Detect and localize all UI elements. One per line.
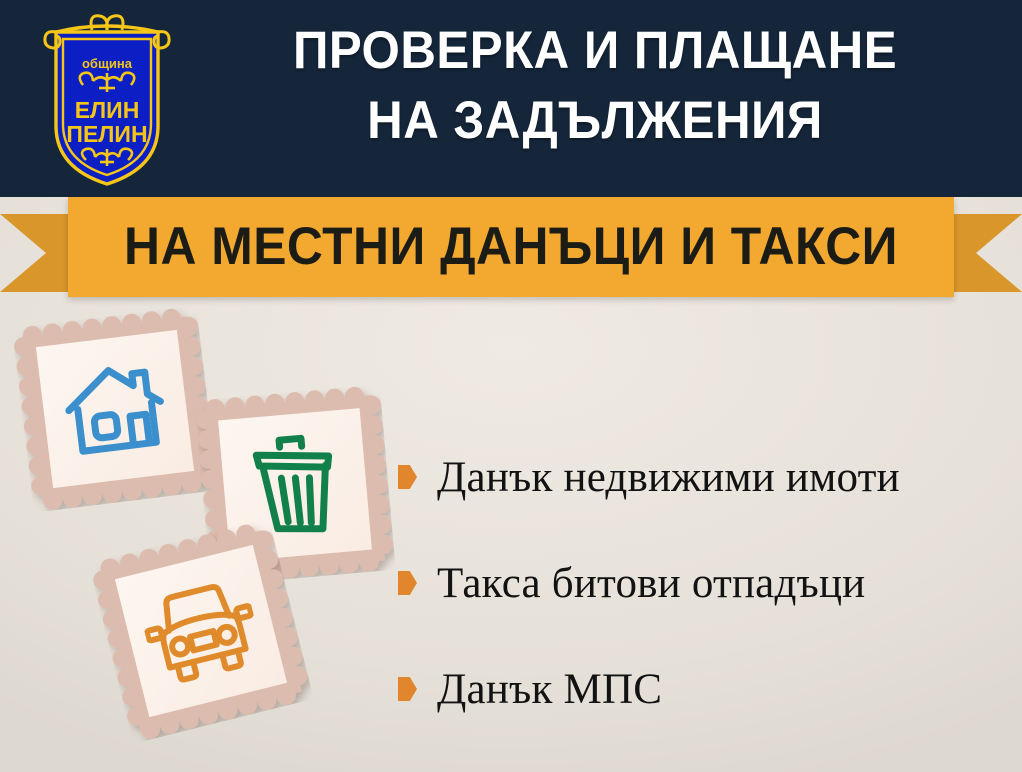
crest-name-line-1: ЕЛИН xyxy=(75,97,140,123)
ribbon-banner: НА МЕСТНИ ДАНЪЦИ И ТАКСИ xyxy=(0,197,1022,309)
house-icon xyxy=(36,330,194,488)
municipal-coat-of-arms: община ЕЛИН ПЕЛИН xyxy=(36,8,178,190)
list-item[interactable]: Такса битови отпадъци xyxy=(398,530,1008,636)
list-item[interactable]: Данък недвижими имоти xyxy=(398,424,1008,530)
service-label: Данък МПС xyxy=(437,665,662,714)
page-title: ПРОВЕРКА И ПЛАЩАНЕ НА ЗАДЪЛЖЕНИЯ xyxy=(214,16,977,156)
arrow-bullet-icon xyxy=(398,677,417,701)
services-list: Данък недвижими имоти Такса битови отпад… xyxy=(398,424,1008,742)
ribbon-band: НА МЕСТНИ ДАНЪЦИ И ТАКСИ xyxy=(68,197,954,297)
poster-canvas: община ЕЛИН ПЕЛИН xyxy=(0,0,1022,772)
ribbon-subtitle: НА МЕСТНИ ДАНЪЦИ И ТАКСИ xyxy=(95,197,928,297)
crest-municipality-label: община xyxy=(82,56,133,71)
stamp-real-estate xyxy=(11,305,218,512)
header-band: община ЕЛИН ПЕЛИН xyxy=(0,0,1022,197)
service-label: Данък недвижими имоти xyxy=(437,453,900,502)
arrow-bullet-icon xyxy=(398,465,417,489)
crest-name-line-2: ПЕЛИН xyxy=(66,121,147,147)
service-label: Такса битови отпадъци xyxy=(437,559,865,608)
arrow-bullet-icon xyxy=(398,571,417,595)
list-item[interactable]: Данък МПС xyxy=(398,636,1008,742)
